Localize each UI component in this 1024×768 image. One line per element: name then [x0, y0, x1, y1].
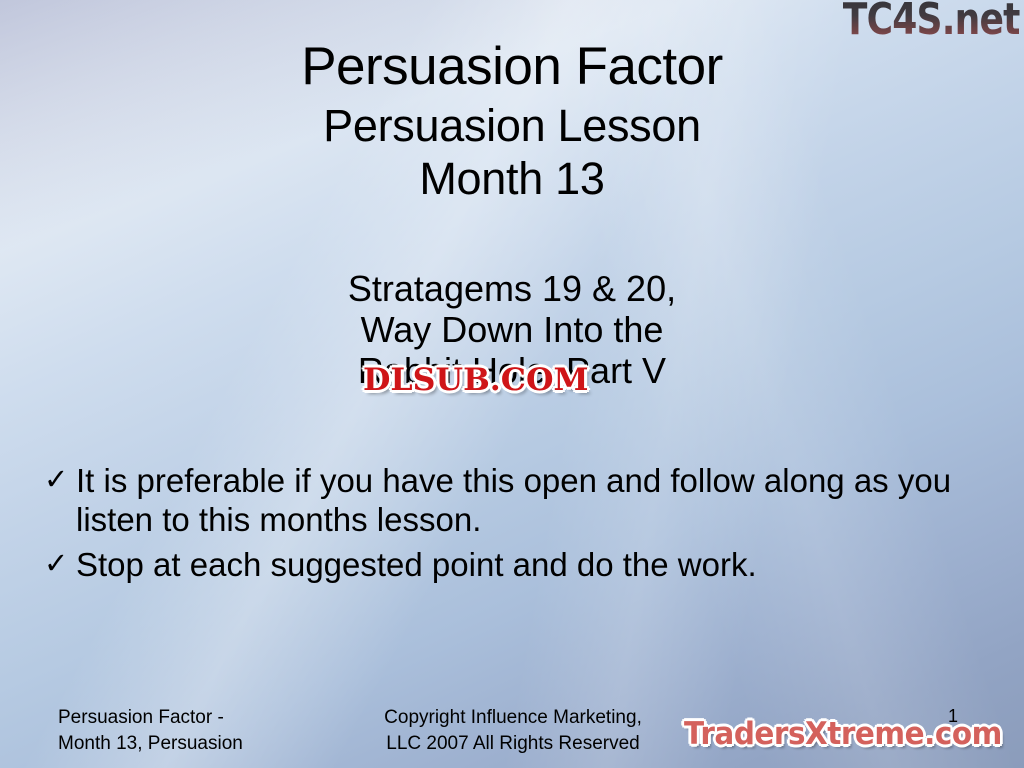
copyright-line-2: LLC 2007 All Rights Reserved: [368, 731, 658, 757]
dlsub-watermark: DLSUB.COM: [363, 362, 589, 398]
copyright-line-1: Copyright Influence Marketing,: [368, 705, 658, 731]
checkmark-icon: ✓: [44, 462, 76, 499]
footer-copyright: Copyright Influence Marketing, LLC 2007 …: [368, 705, 658, 756]
tradersxtreme-logo: TradersXtreme.com: [684, 716, 1002, 752]
title-line-3: Month 13: [0, 156, 1024, 201]
bullet-list: ✓ It is preferable if you have this open…: [44, 462, 974, 591]
list-item-text: Stop at each suggested point and do the …: [76, 546, 974, 585]
list-item: ✓ Stop at each suggested point and do th…: [44, 546, 974, 585]
presentation-slide: TC4S.net Persuasion Factor Persuasion Le…: [0, 0, 1024, 768]
list-item-text: It is preferable if you have this open a…: [76, 462, 974, 540]
slide-title: Persuasion Factor Persuasion Lesson Mont…: [0, 40, 1024, 201]
footer-left: Persuasion Factor - Month 13, Persuasion: [58, 705, 243, 756]
subtitle-line-2: Way Down Into the: [0, 309, 1024, 350]
list-item: ✓ It is preferable if you have this open…: [44, 462, 974, 540]
footer-left-line-2: Month 13, Persuasion: [58, 731, 243, 757]
subtitle-line-1: Stratagems 19 & 20,: [0, 268, 1024, 309]
title-line-1: Persuasion Factor: [0, 40, 1024, 93]
footer-left-line-1: Persuasion Factor -: [58, 705, 243, 731]
title-line-2: Persuasion Lesson: [0, 103, 1024, 148]
tc4s-watermark: TC4S.net: [843, 0, 1020, 45]
checkmark-icon: ✓: [44, 546, 76, 583]
